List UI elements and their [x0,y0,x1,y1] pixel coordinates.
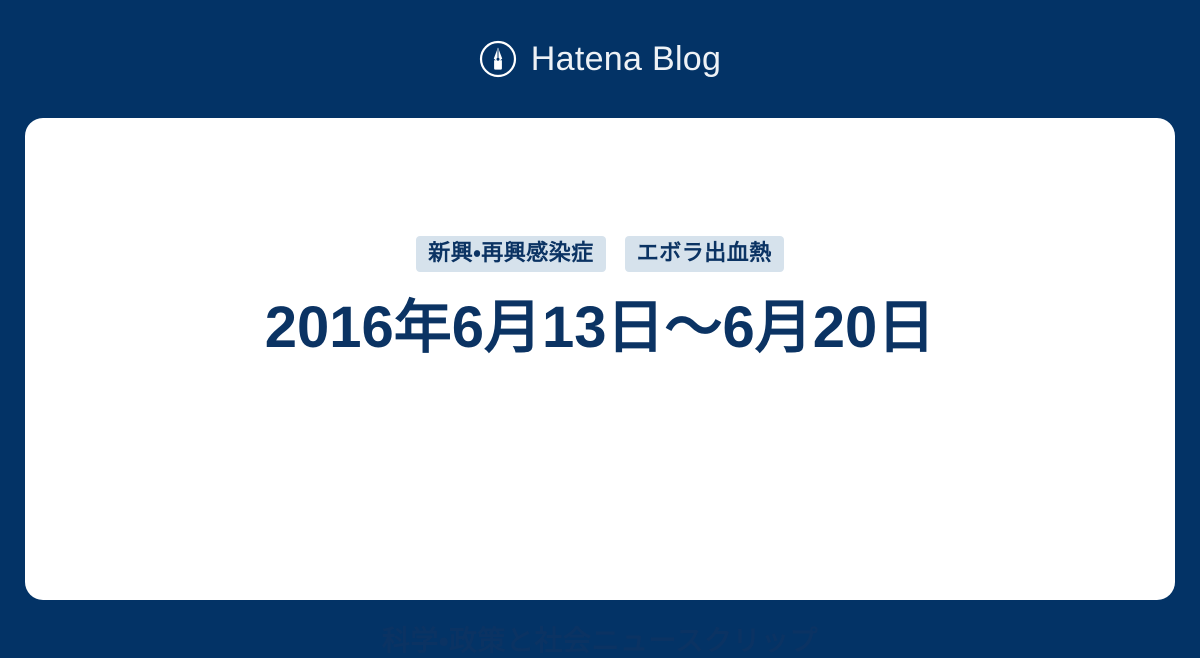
brand-name-label: Hatena Blog [531,42,721,76]
tag-item[interactable]: 新興・再興感染症 [416,236,605,272]
blog-title[interactable]: 科学・政策と社会ニュースクリップ [25,624,1175,658]
tag-list: 新興・再興感染症 エボラ出血熱 [416,236,784,272]
entry-card: 新興・再興感染症 エボラ出血熱 2016年6月13日〜6月20日 科学・政策と社… [25,118,1175,600]
entry-title: 2016年6月13日〜6月20日 [265,296,936,360]
site-header: Hatena Blog [0,0,1200,118]
hatena-blog-brand-link[interactable]: Hatena Blog [479,40,721,78]
hatena-pen-nib-icon [479,40,517,78]
tag-item[interactable]: エボラ出血熱 [625,236,784,272]
og-image-root: Hatena Blog 新興・再興感染症 エボラ出血熱 2016年6月13日〜6… [0,0,1200,630]
entry-block: 新興・再興感染症 エボラ出血熱 2016年6月13日〜6月20日 [25,236,1175,360]
